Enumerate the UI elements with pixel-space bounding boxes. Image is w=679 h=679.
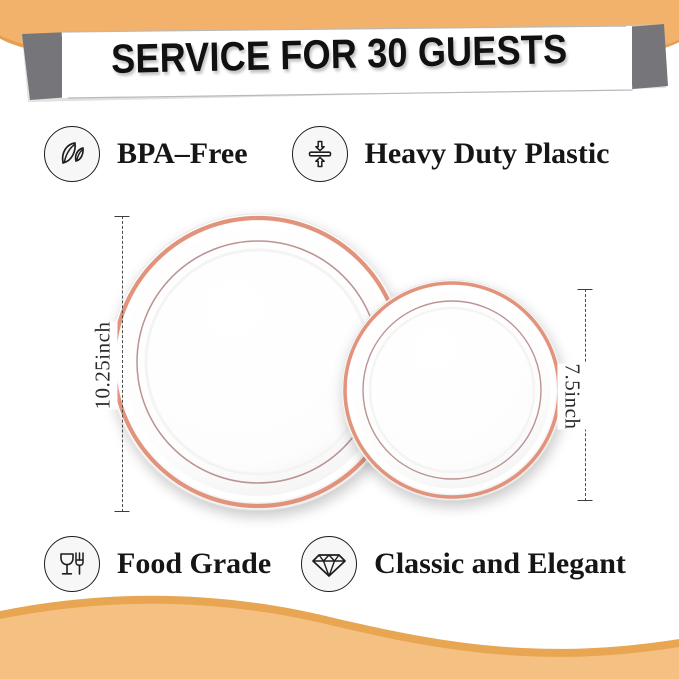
feature-label-heavy-duty-plastic: Heavy Duty Plastic [365, 139, 610, 169]
dimension-small-plate: 7.5inch [575, 289, 595, 501]
dimension-label-large: 10.25inch [88, 322, 117, 410]
dimension-line [122, 216, 123, 512]
headline-ribbon [0, 18, 679, 110]
dimension-cap-bottom [115, 511, 130, 512]
dimension-cap-top [115, 216, 130, 217]
feature-label-bpa-free: BPA–Free [117, 139, 248, 169]
dimension-large-plate: 10.25inch [112, 216, 132, 512]
dimension-cap-top [578, 289, 593, 290]
feature-bpa-free: BPA–Free [44, 126, 248, 182]
dimension-label-small: 7.5inch [557, 364, 586, 430]
dimension-cap-bottom [578, 500, 593, 501]
feature-row-top: BPA–Free Heavy Duty Plastic [44, 126, 644, 182]
small-plate [342, 280, 562, 500]
product-infographic: SERVICE FOR 30 GUESTS BPA–Free [0, 0, 679, 679]
bottom-wave-decoration [0, 569, 679, 679]
feature-heavy-duty-plastic: Heavy Duty Plastic [292, 126, 610, 182]
compression-arrows-icon [292, 126, 348, 182]
leaf-icon [44, 126, 100, 182]
